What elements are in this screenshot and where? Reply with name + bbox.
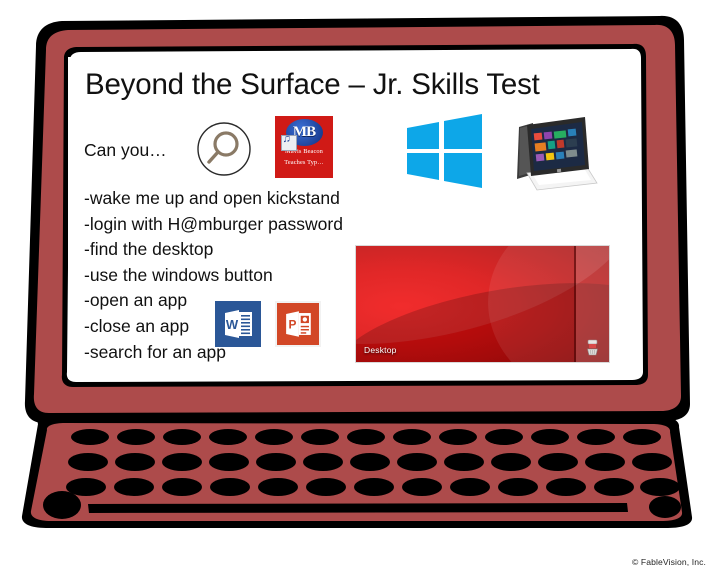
keyboard-key-corner-right	[649, 496, 681, 518]
prompt-text: Can you…	[84, 140, 167, 161]
surface-tablet-image	[503, 111, 599, 191]
screenshot-canvas: Beyond the Surface – Jr. Skills Test Can…	[0, 0, 714, 573]
list-item: -find the desktop	[84, 237, 384, 263]
desktop-label: Desktop	[364, 345, 397, 355]
svg-text:P: P	[289, 318, 297, 332]
microsoft-word-icon[interactable]: W	[215, 301, 261, 347]
slide-content: Beyond the Surface – Jr. Skills Test Can…	[68, 57, 638, 379]
mavis-beacon-icon[interactable]: MB Mavis Beacon Teaches Typ…	[275, 116, 333, 178]
search-magnifier-icon	[194, 119, 254, 179]
office-app-icons: W P	[215, 301, 341, 349]
recycle-bin-icon[interactable]	[585, 338, 600, 356]
windows-logo-icon	[401, 111, 487, 191]
copyright-credit: © FableVision, Inc.	[632, 557, 706, 567]
wallpaper-divider	[574, 246, 576, 362]
desktop-screenshot: Desktop	[355, 245, 610, 363]
microsoft-powerpoint-icon[interactable]: P	[275, 301, 321, 347]
page-title: Beyond the Surface – Jr. Skills Test	[85, 68, 540, 102]
music-note-icon	[281, 135, 297, 151]
list-item: -wake me up and open kickstand	[84, 186, 384, 212]
keyboard-key-corner-left	[43, 491, 81, 519]
list-item: -login with H@mburger password	[84, 212, 384, 238]
keyboard-spacebar	[88, 503, 628, 513]
svg-text:W: W	[226, 317, 239, 332]
list-item: -use the windows button	[84, 263, 384, 289]
mavis-beacon-caption-line2: Teaches Typ…	[284, 159, 323, 168]
mavis-beacon-badge: MB	[286, 119, 323, 146]
